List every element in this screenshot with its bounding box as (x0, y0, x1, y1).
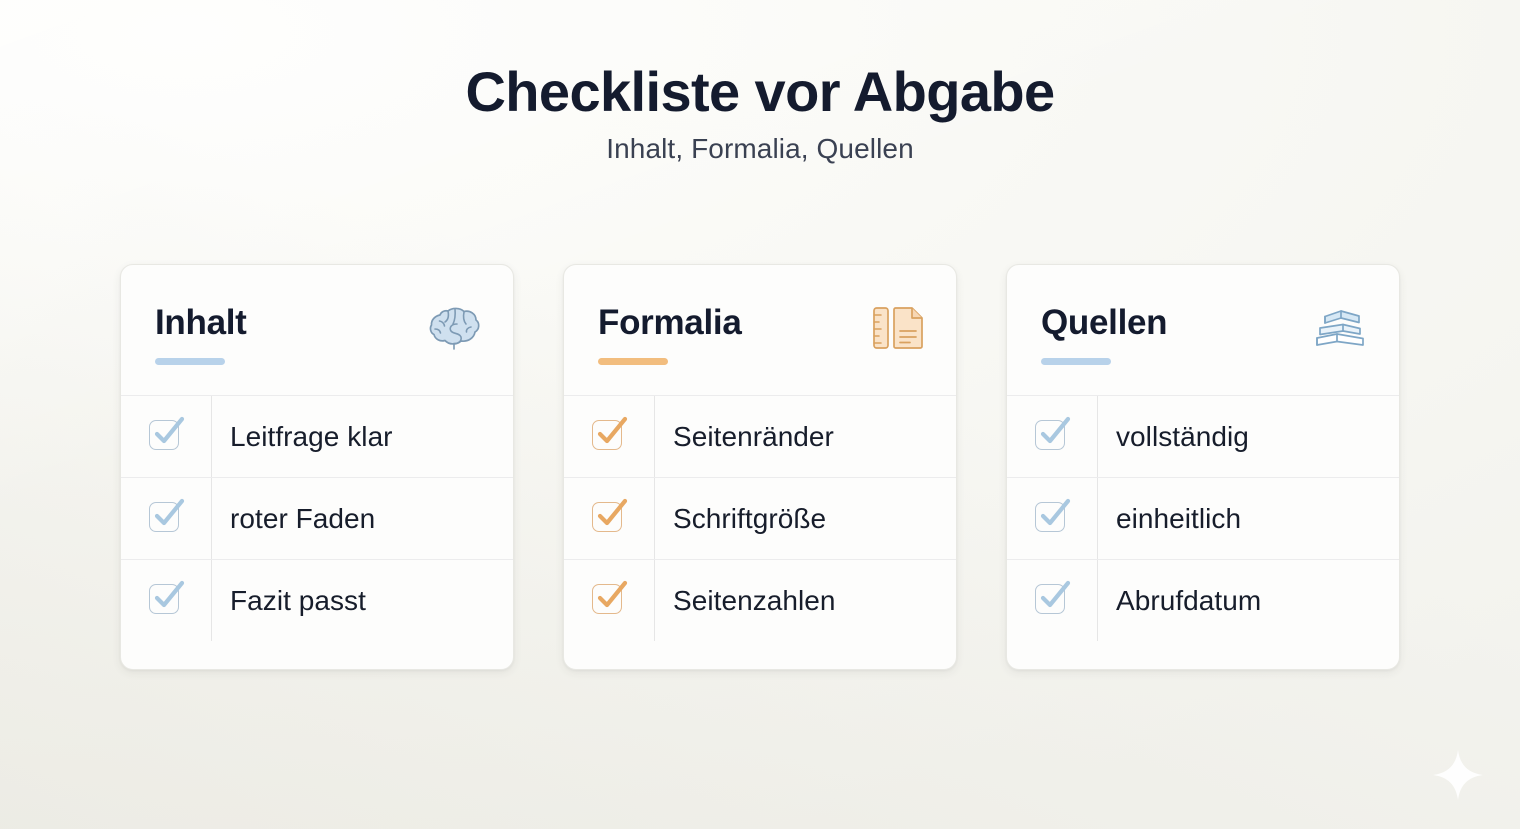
checklist-card-quellen: Quellen (1006, 264, 1400, 670)
checkbox-cell[interactable] (1007, 420, 1097, 454)
checklist-row-label: Seitenränder (654, 421, 834, 453)
card-accent-bar-inhalt (155, 358, 225, 365)
page-title: Checkliste vor Abgabe (0, 62, 1520, 122)
slide-header: Checkliste vor Abgabe Inhalt, Formalia, … (0, 62, 1520, 165)
checkbox-checked-icon[interactable] (149, 502, 183, 536)
card-rows-quellen: vollständig einheitlich (1007, 396, 1399, 669)
checklist-row[interactable]: Leitfrage klar (121, 396, 513, 478)
checkbox-cell[interactable] (1007, 584, 1097, 618)
checklist-row[interactable]: Fazit passt (121, 560, 513, 641)
checkbox-checked-icon[interactable] (1035, 584, 1069, 618)
checklist-card-inhalt: Inhalt (120, 264, 514, 670)
checkbox-checked-icon[interactable] (1035, 420, 1069, 454)
card-title-formalia: Formalia (598, 305, 741, 340)
checkbox-checked-icon[interactable] (592, 420, 626, 454)
card-title-quellen: Quellen (1041, 305, 1167, 340)
checklist-row-label: Fazit passt (211, 585, 366, 617)
slide-canvas: Checkliste vor Abgabe Inhalt, Formalia, … (0, 0, 1520, 829)
checkbox-checked-icon[interactable] (149, 420, 183, 454)
checklist-row[interactable]: Schriftgröße (564, 478, 956, 560)
card-accent-bar-formalia (598, 358, 668, 365)
card-header-quellen: Quellen (1007, 265, 1399, 396)
checklist-row-label: Abrufdatum (1097, 585, 1261, 617)
card-title-inhalt: Inhalt (155, 305, 247, 340)
checkbox-checked-icon[interactable] (592, 502, 626, 536)
card-rows-inhalt: Leitfrage klar roter Faden (121, 396, 513, 669)
card-rows-formalia: Seitenränder Schriftgröße (564, 396, 956, 669)
checkbox-checked-icon[interactable] (149, 584, 183, 618)
checklist-row-label: roter Faden (211, 503, 375, 535)
checklist-row-label: Schriftgröße (654, 503, 826, 535)
checklist-row[interactable]: vollständig (1007, 396, 1399, 478)
card-header-inhalt: Inhalt (121, 265, 513, 396)
checkbox-cell[interactable] (1007, 502, 1097, 536)
checkbox-cell[interactable] (564, 420, 654, 454)
checkbox-cell[interactable] (564, 584, 654, 618)
checklist-row[interactable]: Abrufdatum (1007, 560, 1399, 641)
card-accent-bar-quellen (1041, 358, 1111, 365)
checklist-row-label: Leitfrage klar (211, 421, 393, 453)
page-subtitle: Inhalt, Formalia, Quellen (0, 133, 1520, 165)
checklist-row[interactable]: einheitlich (1007, 478, 1399, 560)
checkbox-cell[interactable] (121, 584, 211, 618)
card-header-formalia: Formalia (564, 265, 956, 396)
checkbox-cell[interactable] (564, 502, 654, 536)
brain-icon (421, 303, 483, 355)
books-icon (1307, 303, 1369, 355)
checkbox-checked-icon[interactable] (1035, 502, 1069, 536)
checkbox-cell[interactable] (121, 502, 211, 536)
checklist-card-formalia: Formalia (563, 264, 957, 670)
checklist-row[interactable]: roter Faden (121, 478, 513, 560)
checkbox-checked-icon[interactable] (592, 584, 626, 618)
sparkle-icon (1430, 747, 1486, 803)
checklist-row-label: Seitenzahlen (654, 585, 836, 617)
checklist-row-label: einheitlich (1097, 503, 1241, 535)
checklist-row-label: vollständig (1097, 421, 1249, 453)
checkbox-cell[interactable] (121, 420, 211, 454)
checklist-row[interactable]: Seitenränder (564, 396, 956, 478)
checklist-row[interactable]: Seitenzahlen (564, 560, 956, 641)
checklist-card-group: Inhalt (120, 264, 1400, 670)
ruler-document-icon (864, 303, 926, 355)
